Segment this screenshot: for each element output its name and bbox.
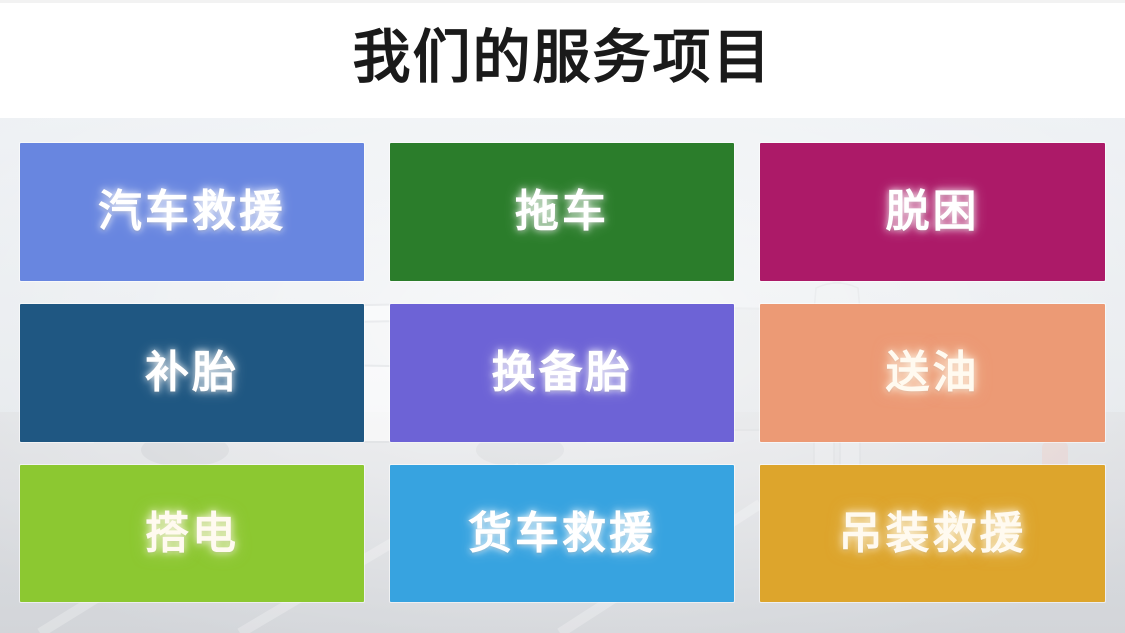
service-tile-label: 吊装救援: [839, 512, 1027, 556]
service-tile-label: 汽车救援: [98, 190, 286, 234]
service-tile[interactable]: 搭电: [20, 465, 364, 602]
service-tile-label: 拖车: [515, 190, 609, 234]
service-tile-label: 补胎: [145, 351, 239, 395]
service-tile[interactable]: 拖车: [390, 143, 734, 281]
service-tile[interactable]: 货车救援: [390, 465, 734, 602]
service-tile-label: 搭电: [145, 512, 239, 556]
service-tile-label: 送油: [886, 351, 980, 395]
service-tile-label: 换备胎: [492, 351, 633, 395]
service-tile[interactable]: 送油: [760, 304, 1105, 442]
top-hairline-divider: [0, 0, 1125, 3]
service-tile[interactable]: 脱困: [760, 143, 1105, 281]
page-title: 我们的服务项目: [0, 22, 1125, 94]
service-tile[interactable]: 吊装救援: [760, 465, 1105, 602]
service-tile-grid: 汽车救援拖车脱困补胎换备胎送油搭电货车救援吊装救援: [20, 143, 1105, 603]
service-tile-label: 货车救援: [468, 512, 656, 556]
service-tile-label: 脱困: [886, 190, 980, 234]
service-tile[interactable]: 补胎: [20, 304, 364, 442]
service-tile[interactable]: 汽车救援: [20, 143, 364, 281]
service-tile[interactable]: 换备胎: [390, 304, 734, 442]
